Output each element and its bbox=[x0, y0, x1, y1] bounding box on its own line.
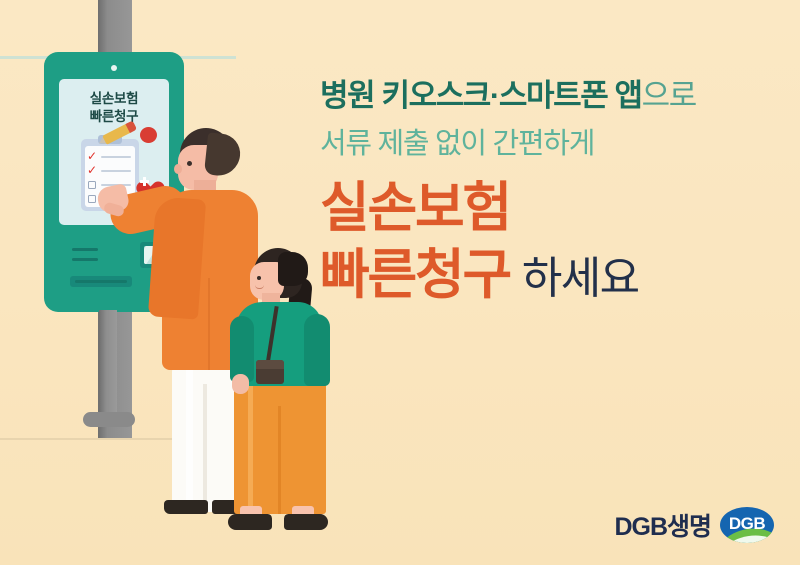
checklist-row: ✓ bbox=[88, 153, 132, 162]
kiosk-stand-pole bbox=[99, 310, 117, 420]
receipt-slot bbox=[70, 276, 132, 287]
checkbox-icon bbox=[88, 195, 96, 203]
check-icon: ✓ bbox=[87, 165, 98, 176]
checklist-line bbox=[101, 170, 131, 172]
headline-line-1: 병원 키오스크·스마트폰 앱으로 bbox=[320, 78, 780, 115]
woman-hand-left bbox=[232, 374, 249, 394]
headline-line-4: 빠른청구하세요 bbox=[320, 246, 780, 304]
man-eye bbox=[187, 161, 192, 166]
kiosk-screen-title: 실손보험 빠른청구 bbox=[59, 90, 169, 126]
woman-arm-left bbox=[230, 316, 254, 382]
man-jacket-seam bbox=[208, 278, 210, 370]
headline-line-4-tail: 하세요 bbox=[522, 254, 639, 303]
checklist-line bbox=[101, 156, 131, 158]
brand-wordmark: DGB생명 bbox=[614, 507, 711, 543]
kiosk-screen-title-line2: 빠른청구 bbox=[59, 108, 169, 126]
brand-emblem-icon: DGB bbox=[720, 507, 774, 543]
woman-eye bbox=[257, 276, 261, 280]
checkbox-icon bbox=[88, 181, 96, 189]
woman-arm-right bbox=[304, 314, 330, 386]
headline-copy: 병원 키오스크·스마트폰 앱으로 서류 제출 없이 간편하게 실손보험 빠른청구… bbox=[320, 78, 780, 304]
kiosk-panel-dash bbox=[72, 248, 98, 251]
man-trousers-seam bbox=[203, 384, 207, 512]
man-shoe-left bbox=[164, 500, 208, 514]
kiosk-stand-base bbox=[83, 412, 135, 427]
headline-line-3: 실손보험 bbox=[320, 179, 780, 237]
check-icon: ✓ bbox=[87, 151, 98, 162]
brand-logo: DGB생명 DGB bbox=[614, 507, 774, 543]
woman-hair-top bbox=[278, 252, 308, 286]
advertisement-poster: 실손보험 빠른청구 ✓ ✓ bbox=[0, 0, 800, 565]
kiosk-panel-dash bbox=[72, 258, 98, 261]
medical-cross-icon bbox=[140, 177, 149, 186]
headline-line-1-strong: 병원 키오스크·스마트폰 앱 bbox=[320, 78, 642, 113]
woman-trousers-seam bbox=[278, 406, 281, 514]
man-ear bbox=[174, 164, 182, 174]
man-trousers-highlight bbox=[186, 368, 193, 504]
headline-line-2: 서류 제출 없이 간편하게 bbox=[320, 127, 780, 162]
kiosk-camera-icon bbox=[111, 65, 117, 71]
woman-shoe-right bbox=[284, 514, 328, 530]
brand-emblem-label: DGB bbox=[720, 507, 774, 543]
woman-trousers-highlight bbox=[248, 384, 253, 510]
checklist-row: ✓ bbox=[88, 167, 132, 176]
man-hair-front bbox=[204, 132, 242, 177]
crossbody-bag-flap bbox=[256, 360, 284, 369]
headline-line-4-emphasis: 빠른청구 bbox=[320, 245, 510, 305]
woman-shoe-left bbox=[228, 514, 272, 530]
headline-line-1-soft: 으로 bbox=[642, 78, 696, 113]
man-jacket-shoulder bbox=[148, 196, 206, 319]
kiosk-screen-title-line1: 실손보험 bbox=[59, 90, 169, 108]
